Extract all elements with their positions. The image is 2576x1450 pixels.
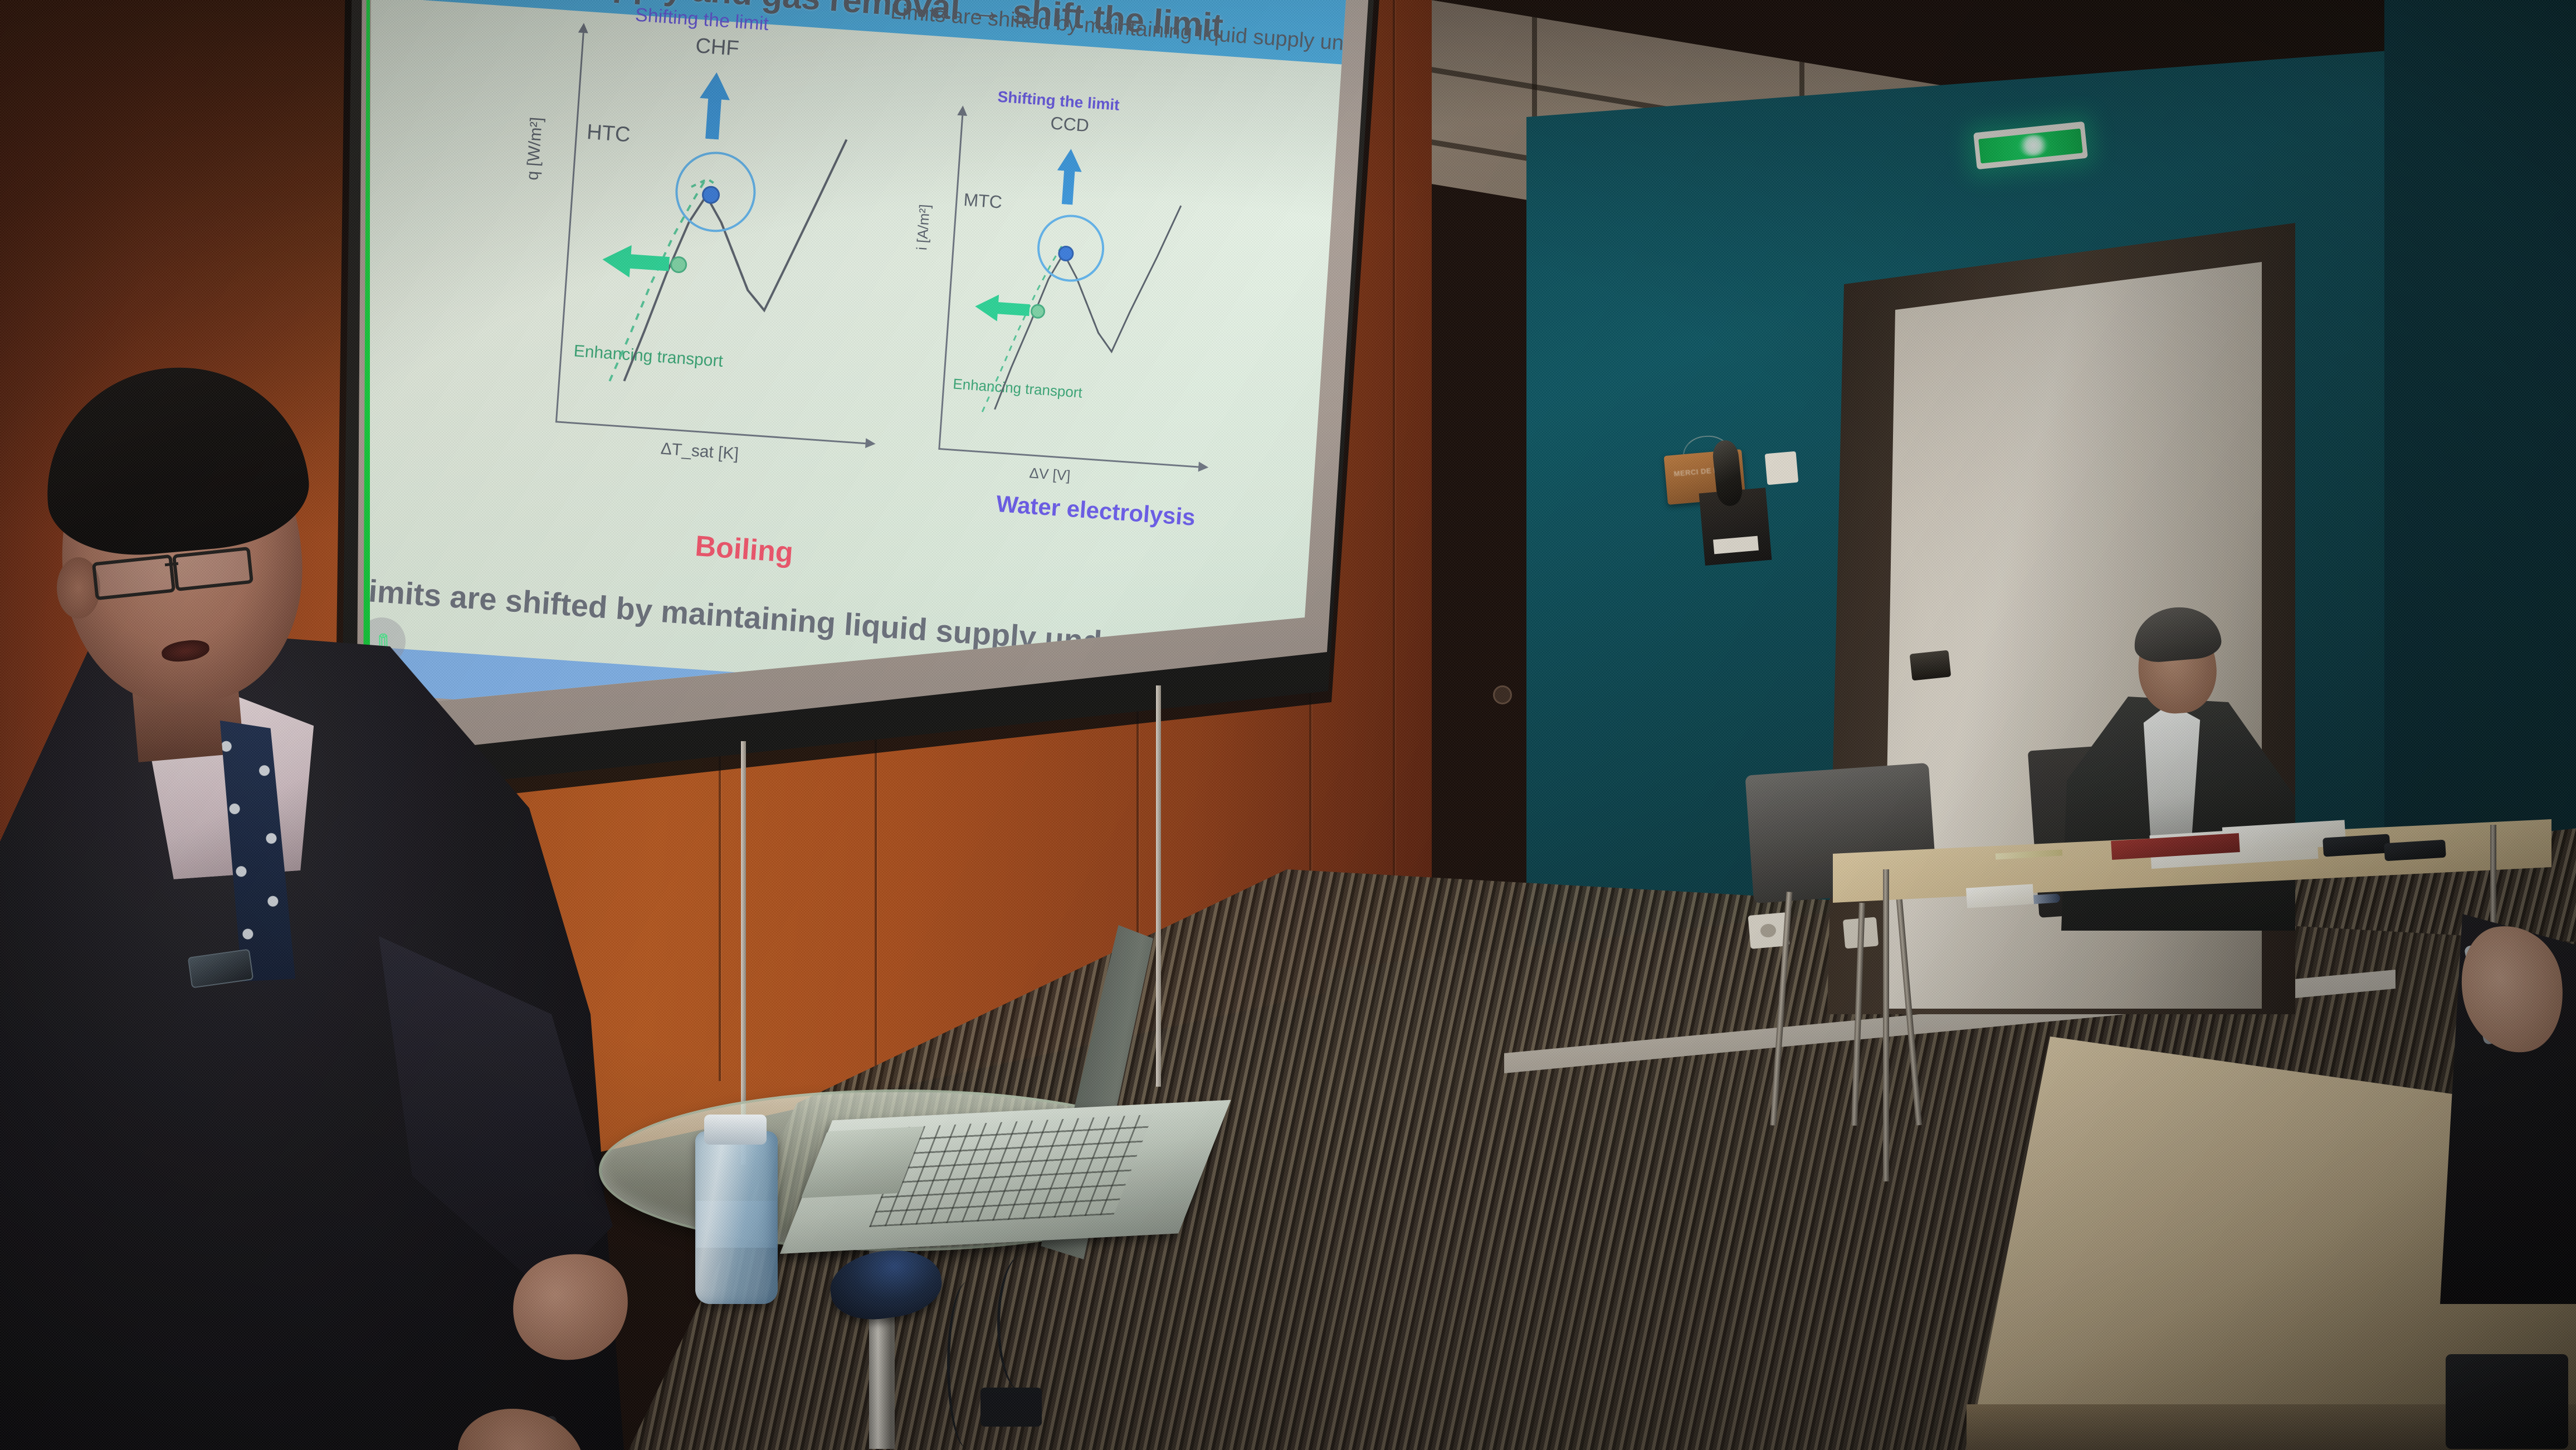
table-leg-left [1883,869,1889,1181]
water-bottle[interactable] [695,1131,778,1304]
door-handle[interactable] [1910,650,1951,680]
screen-support-leg-right [1156,685,1161,1087]
note-card[interactable] [1966,884,2034,908]
slide-label-boiling: Boiling [694,529,794,570]
smartphone-b[interactable] [2384,840,2446,862]
power-adapter [980,1388,1042,1427]
chart-electrolysis-curve: i [A/m²] ΔV [V] Shifting the limit CCD M… [906,100,1247,544]
wall-bolt [1493,685,1512,704]
photo-scene: MERCI DE NOUS Principles to Water Electr… [0,0,2576,1450]
laptop-cable [997,1254,1050,1393]
presenter [0,390,691,1450]
wall-switch-plate[interactable] [1765,451,1799,485]
water-bottle-cap[interactable] [704,1115,767,1145]
foreground-dark-object [2446,1354,2568,1449]
